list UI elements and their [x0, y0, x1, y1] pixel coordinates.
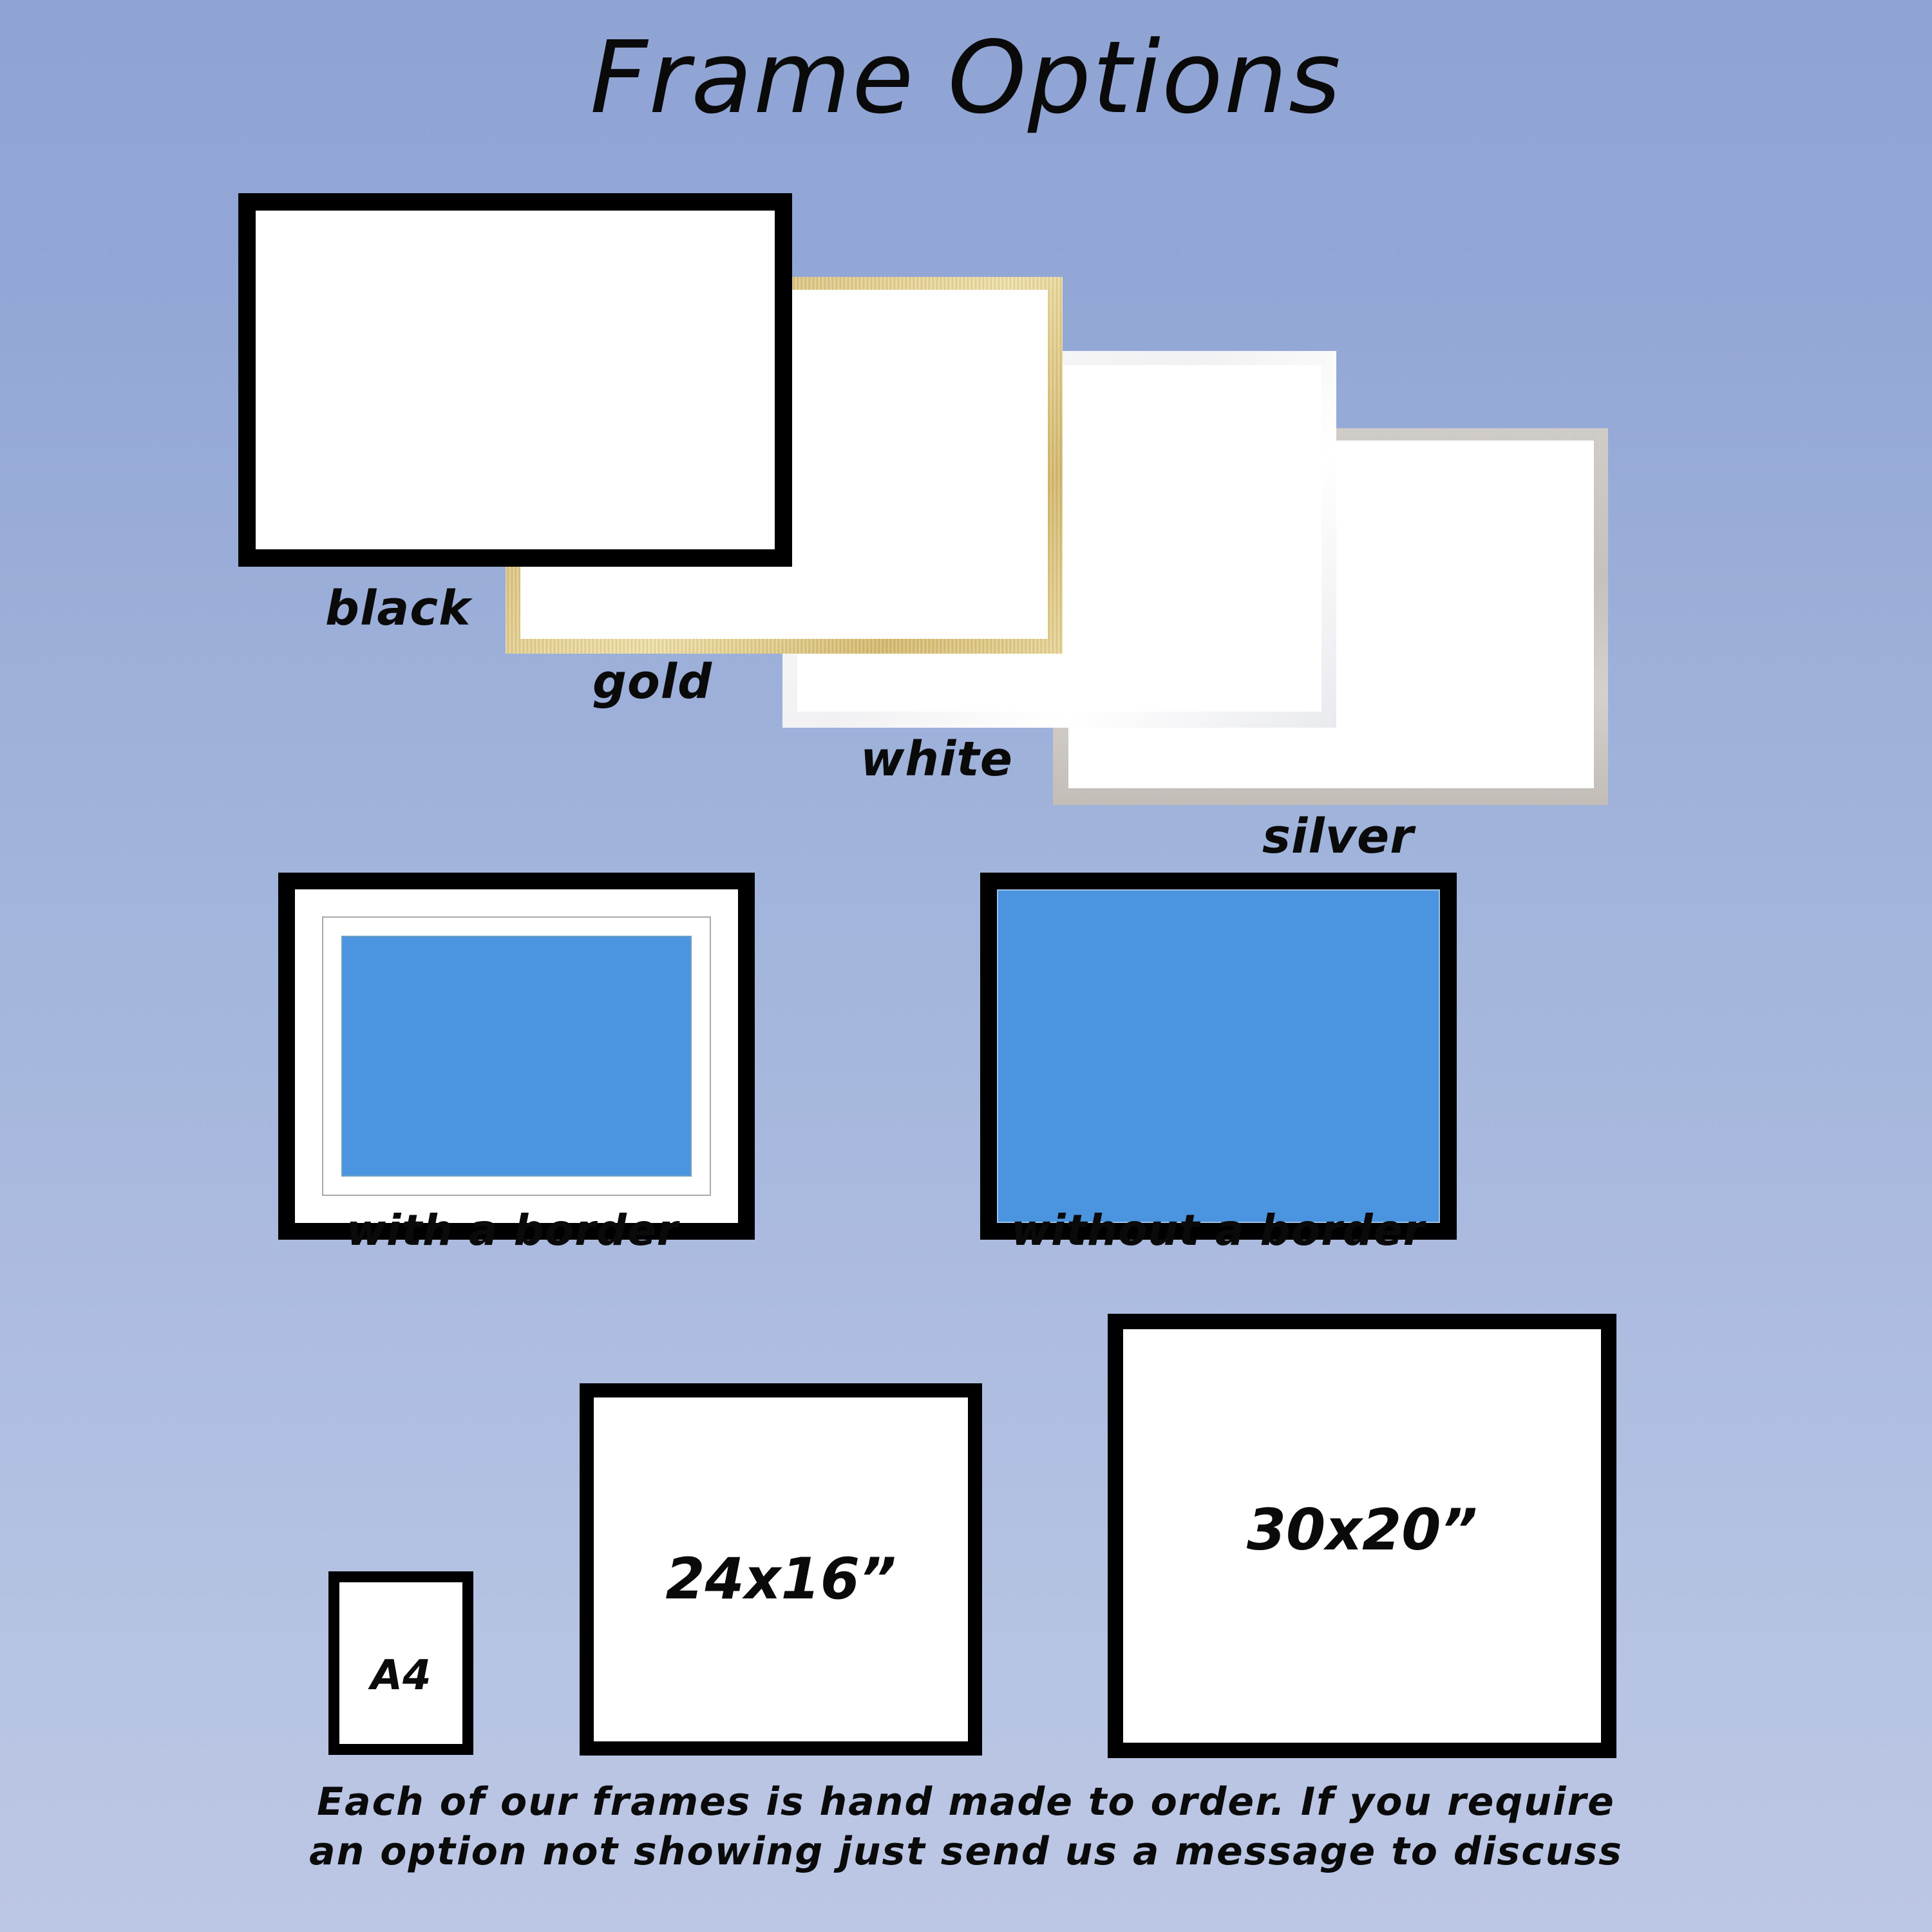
frame-size-24x16[interactable]: 24x16” [580, 1383, 982, 1756]
frame-options-infographic: Frame Options silver white gold black wi… [0, 0, 1932, 1932]
frame-size-30x20[interactable]: 30x20” [1108, 1314, 1616, 1758]
photo-area-without-border [997, 889, 1440, 1223]
frame-sample-black[interactable] [238, 193, 792, 567]
frame-label-black: black [325, 581, 471, 636]
frame-with-border[interactable] [278, 873, 755, 1240]
frame-label-white: white [860, 732, 1013, 787]
size-label-30x20: 30x20” [1123, 1497, 1601, 1563]
photo-area-with-border [341, 936, 692, 1177]
footnote-line-2: an option not showing just send us a mes… [0, 1827, 1932, 1877]
page-title: Frame Options [0, 26, 1932, 131]
size-label-a4: A4 [339, 1652, 462, 1700]
frame-size-a4[interactable]: A4 [328, 1571, 473, 1755]
frame-label-without-border: without a border [1011, 1206, 1425, 1255]
frame-label-silver: silver [1262, 809, 1414, 864]
footnote: Each of our frames is hand made to order… [0, 1777, 1932, 1877]
frame-without-border[interactable] [980, 873, 1457, 1240]
size-label-24x16: 24x16” [594, 1546, 968, 1612]
frame-label-with-border: with a border [346, 1206, 678, 1255]
frame-label-gold: gold [592, 654, 712, 710]
footnote-line-1: Each of our frames is hand made to order… [0, 1777, 1932, 1827]
